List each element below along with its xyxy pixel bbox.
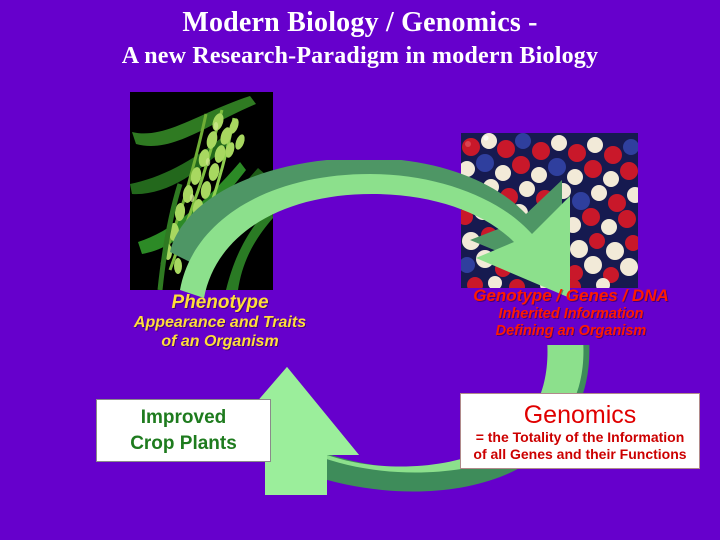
genomics-line-2: of all Genes and their Functions: [473, 446, 686, 463]
page-title: Modern Biology / Genomics - A new Resear…: [0, 6, 720, 72]
phenotype-line-2: Appearance and Traits: [96, 314, 344, 333]
arrow-phenotype-to-genotype: [170, 160, 590, 310]
crop-box-line-1: Improved: [141, 405, 227, 431]
genomics-definition-box: Genomics = the Totality of the Informati…: [460, 393, 700, 469]
improved-crop-plants-box: Improved Crop Plants: [96, 399, 271, 462]
slide-canvas: Modern Biology / Genomics - A new Resear…: [0, 0, 720, 540]
crop-box-line-2: Crop Plants: [130, 431, 237, 457]
arrow-top-shape: [170, 160, 590, 310]
genomics-line-1: = the Totality of the Information: [476, 429, 685, 446]
title-line-1: Modern Biology / Genomics -: [0, 6, 720, 40]
title-line-2: A new Research-Paradigm in modern Biolog…: [0, 40, 720, 72]
genotype-line-3: Defining an Organism: [438, 323, 704, 340]
genomics-headline: Genomics: [524, 401, 637, 429]
